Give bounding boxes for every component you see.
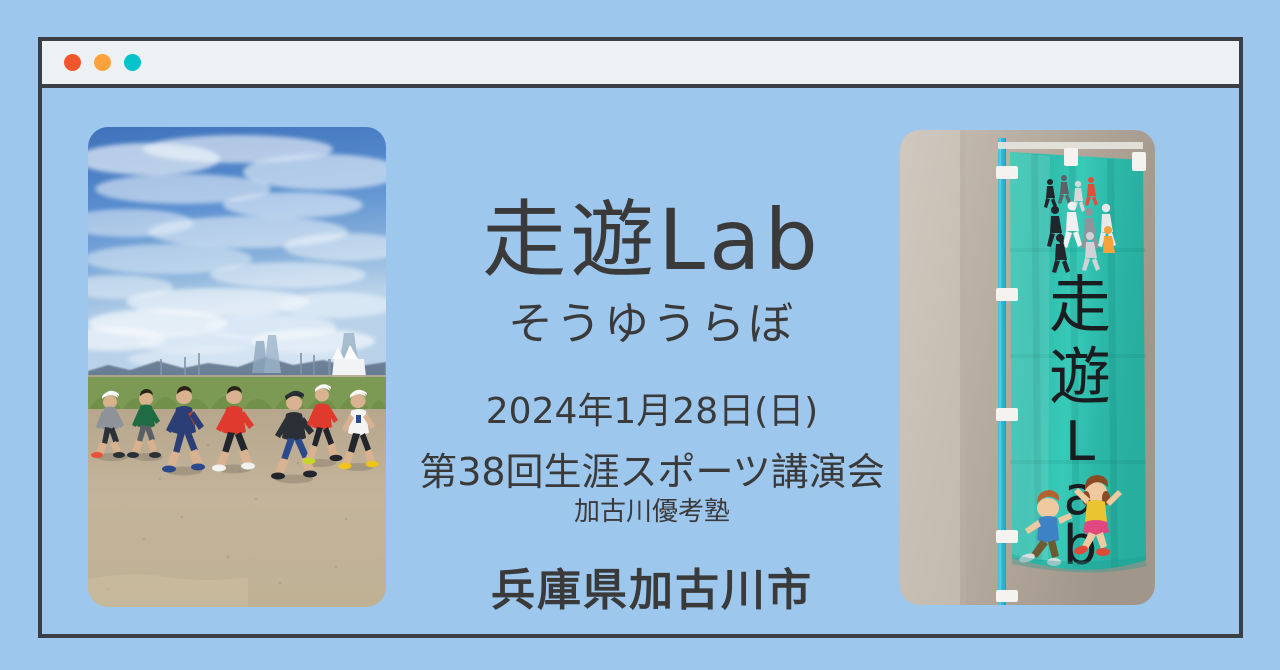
window-content-area: 走遊Lab そうゆうらぼ 2024年1月28日(日) 第38回生涯スポーツ講演会… — [42, 88, 1239, 634]
runners-photo-illustration — [88, 127, 386, 607]
nobori-banner-photo: 走 遊 L a b — [900, 130, 1155, 605]
event-title: 第38回生涯スポーツ講演会 — [419, 453, 885, 493]
event-subtitle: 加古川優考塾 — [574, 499, 730, 526]
maximize-dot[interactable] — [124, 54, 141, 71]
brand-reading: そうゆうらぼ — [508, 300, 796, 347]
minimize-dot[interactable] — [94, 54, 111, 71]
event-date: 2024年1月28日(日) — [486, 393, 818, 431]
nobori-banner-illustration: 走 遊 L a b — [900, 130, 1155, 605]
svg-text:遊: 遊 — [1049, 340, 1111, 413]
app-window: 走遊Lab そうゆうらぼ 2024年1月28日(日) 第38回生涯スポーツ講演会… — [38, 37, 1243, 638]
event-text-block: 走遊Lab そうゆうらぼ 2024年1月28日(日) 第38回生涯スポーツ講演会… — [402, 108, 902, 648]
banner-top-rod — [998, 142, 1143, 149]
close-dot[interactable] — [64, 54, 81, 71]
window-title-bar — [42, 41, 1239, 88]
svg-text:走: 走 — [1049, 268, 1111, 341]
event-location: 兵庫県加古川市 — [491, 568, 813, 614]
runners-photo — [88, 127, 386, 607]
brand-title: 走遊Lab — [482, 198, 822, 284]
